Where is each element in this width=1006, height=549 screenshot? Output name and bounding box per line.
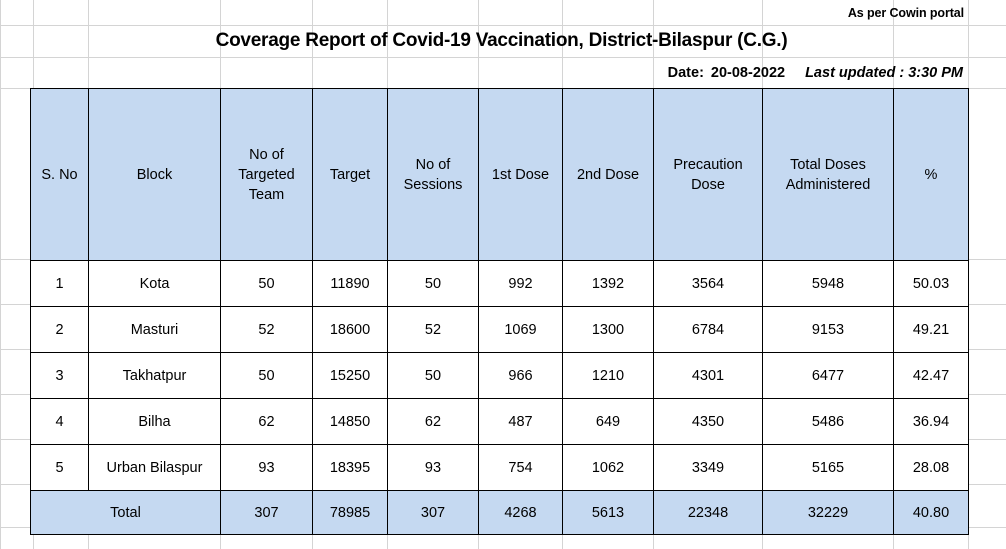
cell-sessions: 62 [388, 399, 479, 445]
date-row: Date: 20-08-2022 Last updated : 3:30 PM [33, 57, 970, 88]
column-header-sessions: No of Sessions [388, 89, 479, 261]
coverage-report-table: S. No Block No of Targeted Team Target N… [30, 88, 969, 535]
cell-first-dose: 754 [479, 445, 563, 491]
cell-targeted-team: 50 [221, 261, 313, 307]
total-percent: 40.80 [894, 491, 969, 535]
cell-s-no: 4 [31, 399, 89, 445]
cell-target: 15250 [313, 353, 388, 399]
cell-percent: 42.47 [894, 353, 969, 399]
cell-percent: 28.08 [894, 445, 969, 491]
cell-targeted-team: 52 [221, 307, 313, 353]
cell-s-no: 1 [31, 261, 89, 307]
cell-precaution-dose: 4350 [654, 399, 763, 445]
banner-row: As per Cowin portal [33, 0, 970, 25]
cell-total-doses: 5948 [763, 261, 894, 307]
cell-precaution-dose: 3349 [654, 445, 763, 491]
cell-total-doses: 6477 [763, 353, 894, 399]
total-sessions: 307 [388, 491, 479, 535]
cell-sessions: 50 [388, 353, 479, 399]
cell-s-no: 5 [31, 445, 89, 491]
cell-targeted-team: 93 [221, 445, 313, 491]
cell-first-dose: 966 [479, 353, 563, 399]
table-row: 2 Masturi 52 18600 52 1069 1300 6784 915… [31, 307, 969, 353]
cell-block: Bilha [89, 399, 221, 445]
total-precaution-dose: 22348 [654, 491, 763, 535]
table-header-row: S. No Block No of Targeted Team Target N… [31, 89, 969, 261]
column-header-precaution-dose: Precaution Dose [654, 89, 763, 261]
column-header-target: Target [313, 89, 388, 261]
table-total-row: Total 307 78985 307 4268 5613 22348 3222… [31, 491, 969, 535]
cell-precaution-dose: 3564 [654, 261, 763, 307]
column-header-targeted-team: No of Targeted Team [221, 89, 313, 261]
cell-second-dose: 1300 [563, 307, 654, 353]
page-title: Coverage Report of Covid-19 Vaccination,… [216, 30, 788, 52]
total-target: 78985 [313, 491, 388, 535]
cell-sessions: 52 [388, 307, 479, 353]
cell-target: 18395 [313, 445, 388, 491]
column-header-s-no: S. No [31, 89, 89, 261]
cell-target: 18600 [313, 307, 388, 353]
cell-first-dose: 992 [479, 261, 563, 307]
cell-second-dose: 1392 [563, 261, 654, 307]
cell-block: Takhatpur [89, 353, 221, 399]
cell-targeted-team: 50 [221, 353, 313, 399]
total-label: Total [31, 491, 221, 535]
table-row: 1 Kota 50 11890 50 992 1392 3564 5948 50… [31, 261, 969, 307]
cell-precaution-dose: 6784 [654, 307, 763, 353]
cell-precaution-dose: 4301 [654, 353, 763, 399]
cell-s-no: 3 [31, 353, 89, 399]
cell-second-dose: 1210 [563, 353, 654, 399]
column-header-block: Block [89, 89, 221, 261]
table-row: 4 Bilha 62 14850 62 487 649 4350 5486 36… [31, 399, 969, 445]
title-row: Coverage Report of Covid-19 Vaccination,… [33, 25, 970, 57]
total-targeted-team: 307 [221, 491, 313, 535]
total-total-doses: 32229 [763, 491, 894, 535]
column-header-first-dose: 1st Dose [479, 89, 563, 261]
cell-sessions: 93 [388, 445, 479, 491]
cell-percent: 50.03 [894, 261, 969, 307]
cell-s-no: 2 [31, 307, 89, 353]
cell-first-dose: 487 [479, 399, 563, 445]
date-value: 20-08-2022 [711, 65, 785, 81]
table-row: 3 Takhatpur 50 15250 50 966 1210 4301 64… [31, 353, 969, 399]
cell-first-dose: 1069 [479, 307, 563, 353]
column-header-percent: % [894, 89, 969, 261]
cell-second-dose: 649 [563, 399, 654, 445]
table-row: 5 Urban Bilaspur 93 18395 93 754 1062 33… [31, 445, 969, 491]
cell-total-doses: 5486 [763, 399, 894, 445]
cell-second-dose: 1062 [563, 445, 654, 491]
cell-percent: 36.94 [894, 399, 969, 445]
cell-total-doses: 9153 [763, 307, 894, 353]
cell-block: Masturi [89, 307, 221, 353]
total-first-dose: 4268 [479, 491, 563, 535]
total-second-dose: 5613 [563, 491, 654, 535]
cell-sessions: 50 [388, 261, 479, 307]
cell-percent: 49.21 [894, 307, 969, 353]
cell-target: 11890 [313, 261, 388, 307]
cowin-portal-note: As per Cowin portal [848, 6, 970, 20]
column-header-second-dose: 2nd Dose [563, 89, 654, 261]
cell-block: Urban Bilaspur [89, 445, 221, 491]
cell-targeted-team: 62 [221, 399, 313, 445]
date-label: Date: [668, 65, 704, 81]
last-updated-text: Last updated : 3:30 PM [805, 65, 963, 81]
cell-target: 14850 [313, 399, 388, 445]
column-header-total-doses-administered: Total Doses Administered [763, 89, 894, 261]
cell-block: Kota [89, 261, 221, 307]
cell-total-doses: 5165 [763, 445, 894, 491]
